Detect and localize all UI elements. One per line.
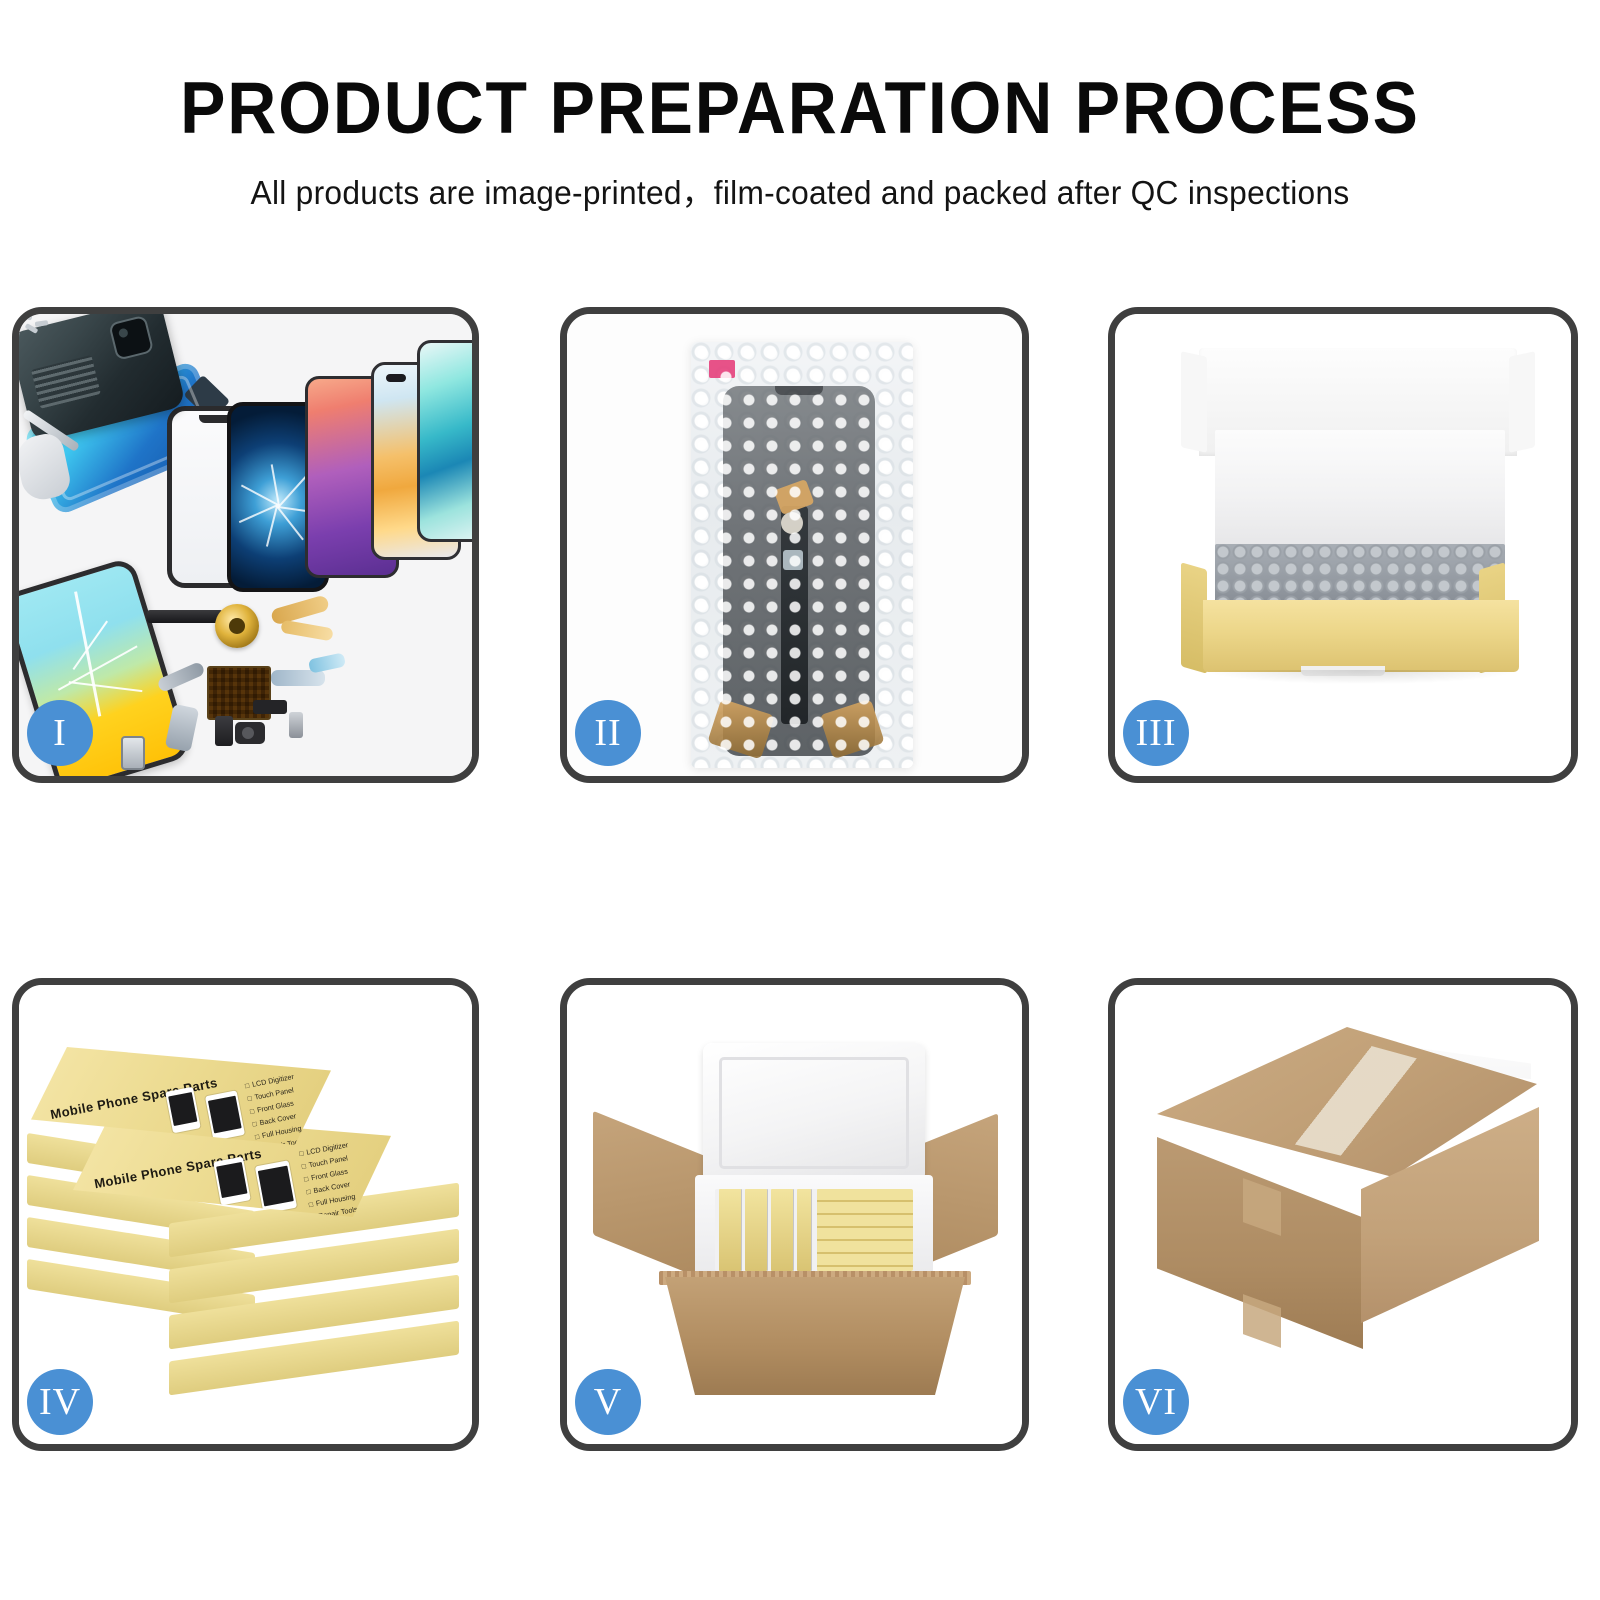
foam-box-lid-icon xyxy=(703,1043,925,1183)
bubble-wrap-gloss xyxy=(691,342,913,768)
box-screen-thumb xyxy=(255,1160,297,1213)
step-badge-4[interactable]: IV xyxy=(27,1369,93,1435)
step-badge-2[interactable]: II xyxy=(575,700,641,766)
foam-box-interior xyxy=(715,1189,913,1271)
printed-box-lid: Mobile Phone Spare Parts LCD Digitizer T… xyxy=(31,1047,331,1145)
vibration-motor-icon xyxy=(289,712,303,738)
sim-tray-icon xyxy=(121,736,145,770)
step-1-illustration: 08:08 xyxy=(19,314,472,776)
flex-cable-icon xyxy=(270,594,330,625)
kraft-box-front-icon xyxy=(1203,600,1519,672)
earpiece-speaker-icon xyxy=(147,610,223,623)
process-step-grid: 08:08 xyxy=(0,0,1600,1600)
step-badge-6[interactable]: VI xyxy=(1123,1369,1189,1435)
flex-cable-icon xyxy=(308,652,346,673)
shatter-lines xyxy=(278,506,279,507)
flex-cable-icon xyxy=(271,670,325,686)
carton-body xyxy=(665,1277,965,1395)
step-4-illustration: Mobile Phone Spare Parts LCD Digitizer T… xyxy=(19,985,472,1444)
step-badge-5[interactable]: V xyxy=(575,1369,641,1435)
step-2-illustration xyxy=(567,314,1022,776)
page-header: PRODUCT PREPARATION PROCESS All products… xyxy=(0,0,1600,214)
box-screen-thumb xyxy=(213,1157,251,1206)
battery-connector-icon xyxy=(215,716,233,746)
teal-phone-screen-icon xyxy=(417,340,479,542)
step-5-illustration xyxy=(567,985,1022,1444)
flex-cable-icon xyxy=(280,620,333,642)
step-6-illustration xyxy=(1115,985,1571,1444)
box-screen-thumb xyxy=(205,1090,245,1140)
step-3-illustration xyxy=(1115,314,1571,776)
white-foam-sheet-icon xyxy=(1215,430,1505,550)
small-component-icon xyxy=(253,700,287,714)
page-title: PRODUCT PREPARATION PROCESS xyxy=(56,72,1544,146)
page-subtitle: All products are image-printed，film-coat… xyxy=(32,166,1568,214)
stacked-gold-boxes-icon xyxy=(817,1189,913,1271)
camera-module-icon xyxy=(235,722,265,744)
step-badge-1[interactable]: I xyxy=(27,700,93,766)
box-shadow xyxy=(1207,670,1515,684)
wireless-charging-coil-icon xyxy=(215,604,259,648)
grey-bubble-padding-icon xyxy=(1215,544,1505,606)
step-badge-3[interactable]: III xyxy=(1123,700,1189,766)
box-checklist: LCD Digitizer Touch Panel Front Glass Ba… xyxy=(298,1139,361,1225)
